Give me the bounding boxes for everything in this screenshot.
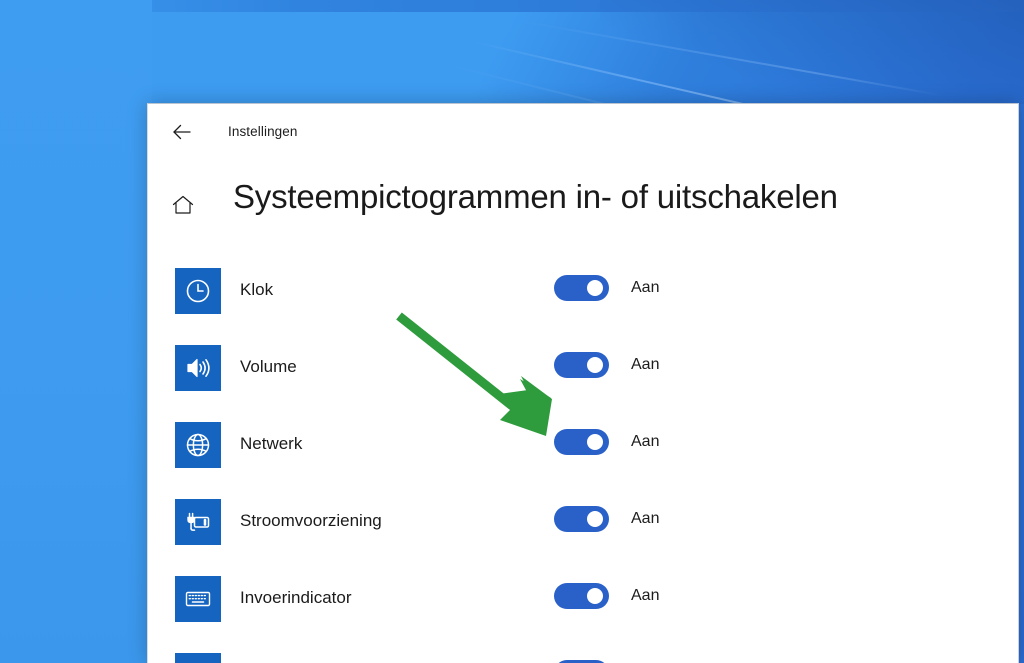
toggle-knob <box>587 280 603 296</box>
power-battery-icon <box>175 499 221 545</box>
row-label: Invoerindicator <box>240 588 352 608</box>
table-row[interactable] <box>148 644 1018 663</box>
system-icons-list: Klok Aan Volume <box>148 259 1018 663</box>
toggle-switch[interactable] <box>554 275 609 301</box>
toggle-state-label: Aan <box>631 433 659 451</box>
page-title: Systeempictogrammen in- of uitschakelen <box>233 178 838 216</box>
row-label: Volume <box>240 357 297 377</box>
page-header: Systeempictogrammen in- of uitschakelen <box>148 174 1018 234</box>
toggle-group: Aan <box>554 506 659 532</box>
home-icon[interactable] <box>166 188 200 222</box>
row-label: Klok <box>240 280 273 300</box>
toggle-switch[interactable] <box>554 583 609 609</box>
table-row[interactable]: Netwerk Aan <box>148 413 1018 490</box>
toggle-switch[interactable] <box>554 429 609 455</box>
toggle-group: Aan <box>554 583 659 609</box>
clock-icon <box>175 268 221 314</box>
toggle-group: Aan <box>554 352 659 378</box>
table-row[interactable]: Stroomvoorziening Aan <box>148 490 1018 567</box>
toggle-switch[interactable] <box>554 352 609 378</box>
toggle-state-label: Aan <box>631 510 659 528</box>
row-label: Netwerk <box>240 434 302 454</box>
table-row[interactable]: Invoerindicator Aan <box>148 567 1018 644</box>
toggle-knob <box>587 434 603 450</box>
table-row[interactable]: Volume Aan <box>148 336 1018 413</box>
toggle-knob <box>587 511 603 527</box>
table-row[interactable]: Klok Aan <box>148 259 1018 336</box>
keyboard-icon <box>175 576 221 622</box>
window-titlebar: Instellingen <box>148 104 1018 158</box>
toggle-state-label: Aan <box>631 279 659 297</box>
network-globe-icon <box>175 422 221 468</box>
wallpaper-left-panel <box>0 0 152 663</box>
toggle-switch[interactable] <box>554 506 609 532</box>
location-icon <box>175 653 221 663</box>
settings-window: Instellingen Systeempictogrammen in- of … <box>147 103 1019 663</box>
toggle-group: Aan <box>554 275 659 301</box>
toggle-group: Aan <box>554 429 659 455</box>
screenshot-root: Instellingen Systeempictogrammen in- of … <box>0 0 1024 663</box>
app-name-label: Instellingen <box>228 124 298 139</box>
toggle-knob <box>587 357 603 373</box>
wallpaper-shadow-wedge <box>600 0 1024 104</box>
toggle-state-label: Aan <box>631 356 659 374</box>
row-label: Stroomvoorziening <box>240 511 382 531</box>
volume-icon <box>175 345 221 391</box>
back-icon[interactable] <box>168 118 196 146</box>
toggle-state-label: Aan <box>631 587 659 605</box>
toggle-knob <box>587 588 603 604</box>
